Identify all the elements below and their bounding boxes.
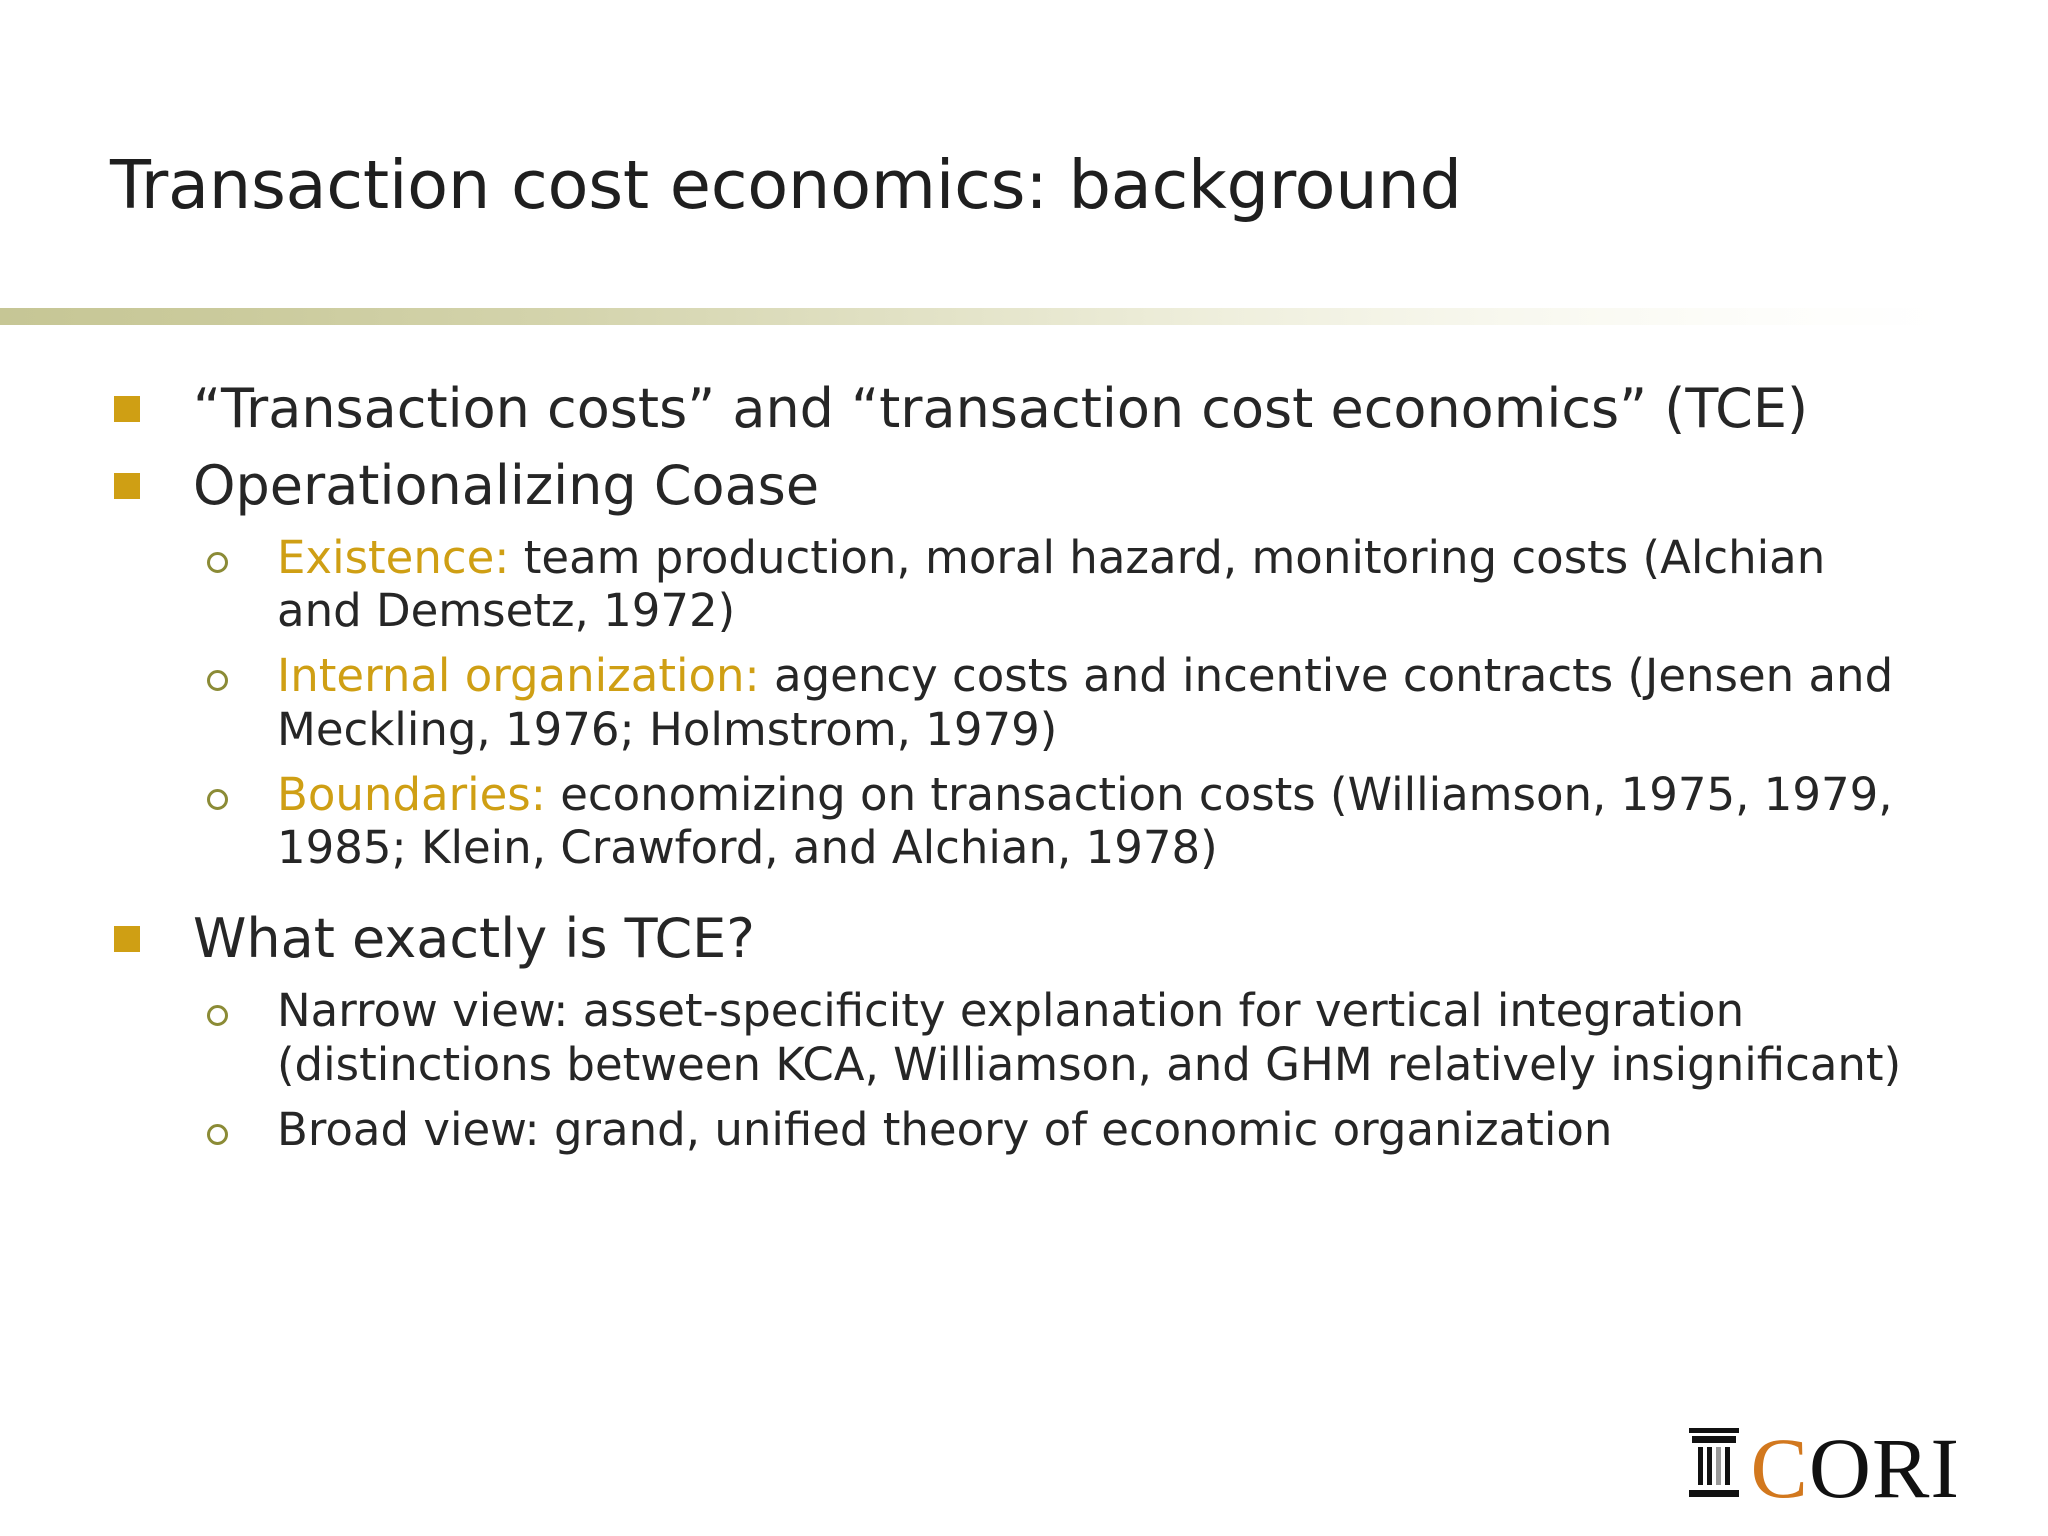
- bullet-body-text: Broad view: grand, unified theory of eco…: [277, 1103, 1612, 1156]
- page-title: Transaction cost economics: background: [110, 150, 1930, 220]
- title-area: Transaction cost economics: background: [110, 150, 1930, 260]
- square-bullet-icon: [114, 926, 140, 952]
- list-item: Operationalizing Coase: [0, 455, 2048, 518]
- bullet-text: Internal organization: agency costs and …: [277, 649, 1907, 755]
- circle-bullet-icon: [207, 789, 228, 810]
- title-divider-rule: [0, 308, 2048, 325]
- classical-column-icon: [1687, 1424, 1741, 1504]
- bullet-text: Broad view: grand, unified theory of eco…: [277, 1103, 1907, 1156]
- bullet-text: Narrow view: asset-specificity explanati…: [277, 984, 1907, 1090]
- square-bullet-icon: [114, 473, 140, 499]
- bullet-body-text: Narrow view: asset-specificity explanati…: [277, 984, 1901, 1090]
- bullet-text: “Transaction costs” and “transaction cos…: [193, 378, 1993, 441]
- bullet-body-text: team production, moral hazard, monitorin…: [277, 531, 1825, 637]
- list-item: Broad view: grand, unified theory of eco…: [0, 1103, 2048, 1156]
- list-item: Boundaries: economizing on transaction c…: [0, 768, 2048, 874]
- bullet-lead-label: Boundaries:: [277, 768, 546, 821]
- bullet-text: Operationalizing Coase: [193, 455, 1993, 518]
- cori-letters-ori: ORI: [1809, 1420, 1960, 1516]
- bullet-lead-label: Existence:: [277, 531, 509, 584]
- cori-wordmark: CORI: [1751, 1432, 1960, 1504]
- bullet-text: What exactly is TCE?: [193, 908, 1993, 971]
- bullet-text: Boundaries: economizing on transaction c…: [277, 768, 1907, 874]
- list-item: What exactly is TCE?: [0, 908, 2048, 971]
- square-bullet-icon: [114, 396, 140, 422]
- circle-bullet-icon: [207, 552, 228, 573]
- bullet-list: “Transaction costs” and “transaction cos…: [0, 378, 2048, 1168]
- circle-bullet-icon: [207, 1124, 228, 1145]
- list-item: “Transaction costs” and “transaction cos…: [0, 378, 2048, 441]
- slide-canvas: Transaction cost economics: background “…: [0, 0, 2048, 1536]
- cori-logo: CORI: [1687, 1424, 1960, 1504]
- list-item: Internal organization: agency costs and …: [0, 649, 2048, 755]
- circle-bullet-icon: [207, 670, 228, 691]
- bullet-lead-label: Internal organization:: [277, 649, 760, 702]
- cori-letter-c: C: [1751, 1420, 1809, 1516]
- list-item: Existence: team production, moral hazard…: [0, 531, 2048, 637]
- list-item: Narrow view: asset-specificity explanati…: [0, 984, 2048, 1090]
- circle-bullet-icon: [207, 1005, 228, 1026]
- bullet-text: Existence: team production, moral hazard…: [277, 531, 1907, 637]
